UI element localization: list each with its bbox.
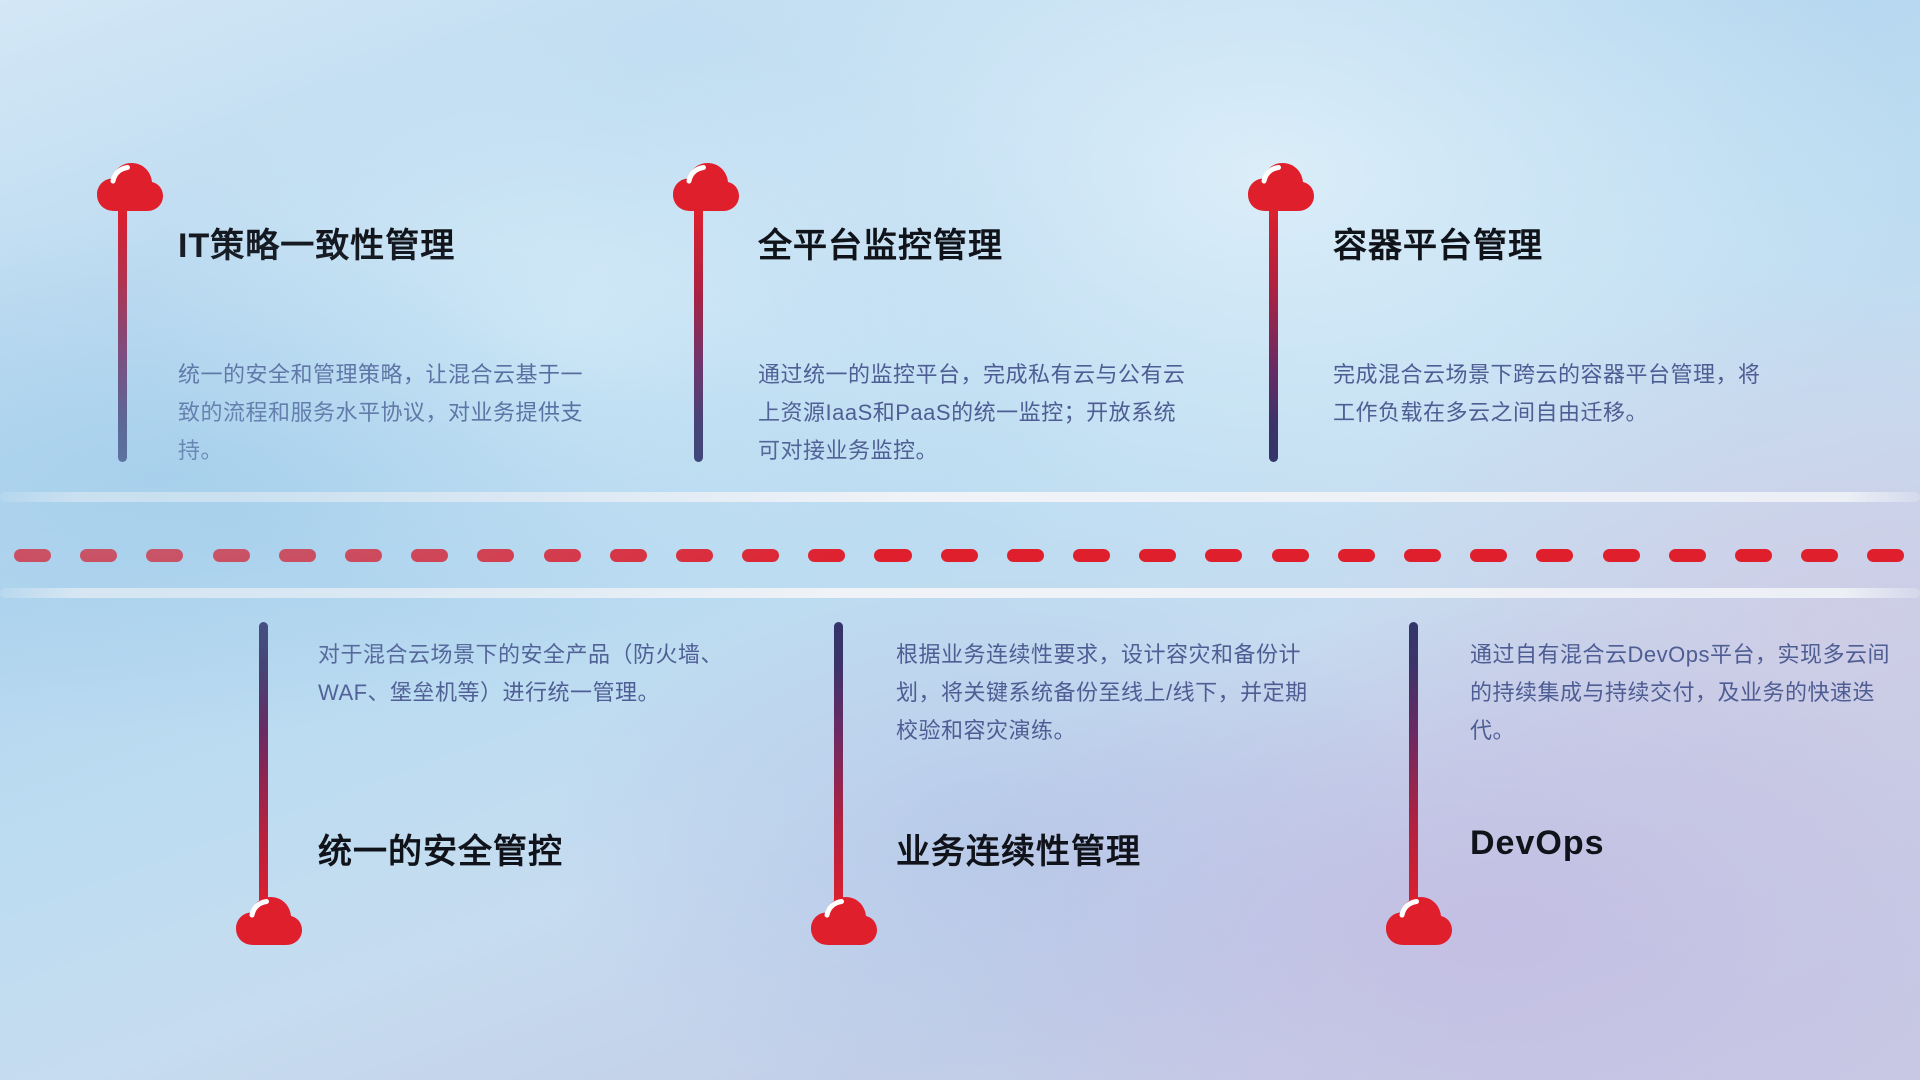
divider-dash — [345, 549, 382, 562]
cloud-icon — [1247, 162, 1315, 212]
cloud-icon — [810, 896, 878, 946]
divider-dash — [544, 549, 581, 562]
divider-dash — [1404, 549, 1441, 562]
card-title-full-platform-monitoring: 全平台监控管理 — [758, 218, 1003, 267]
connector-stem — [694, 206, 703, 462]
cloud-icon — [235, 896, 303, 946]
cloud-icon — [96, 162, 164, 212]
divider-rail-top — [0, 492, 1920, 502]
divider-dash — [1470, 549, 1507, 562]
divider-rail-bottom — [0, 588, 1920, 598]
card-title-container-platform: 容器平台管理 — [1333, 218, 1543, 267]
cloud-icon — [672, 162, 740, 212]
connector-stem — [834, 622, 843, 912]
cloud-icon — [1385, 896, 1453, 946]
divider-dash — [742, 549, 779, 562]
connector-stem — [259, 622, 268, 912]
divider-dash — [1669, 549, 1706, 562]
card-title-it-policy-consistency: IT策略一致性管理 — [178, 218, 455, 267]
divider-dashed-line — [0, 548, 1920, 562]
divider-dash — [1205, 549, 1242, 562]
divider-dash — [279, 549, 316, 562]
card-desc-business-continuity: 根据业务连续性要求，设计容灾和备份计划，将关键系统备份至线上/线下，并定期校验和… — [896, 636, 1328, 750]
divider-dash — [477, 549, 514, 562]
divider-dash — [1867, 549, 1904, 562]
divider-dash — [1735, 549, 1772, 562]
card-title-unified-security-control: 统一的安全管控 — [318, 824, 563, 873]
card-title-business-continuity: 业务连续性管理 — [896, 824, 1141, 873]
divider-dash — [610, 549, 647, 562]
card-desc-unified-security-control: 对于混合云场景下的安全产品（防火墙、WAF、堡垒机等）进行统一管理。 — [318, 636, 738, 712]
divider-dash — [808, 549, 845, 562]
divider-dash — [146, 549, 183, 562]
connector-stem — [1269, 206, 1278, 462]
divider-dash — [1603, 549, 1640, 562]
divider-dash — [1272, 549, 1309, 562]
divider-dash — [14, 549, 51, 562]
card-desc-devops: 通过自有混合云DevOps平台，实现多云间的持续集成与持续交付，及业务的快速迭代… — [1470, 636, 1890, 750]
divider-dash — [213, 549, 250, 562]
divider-dash — [80, 549, 117, 562]
card-title-devops: DevOps — [1470, 824, 1605, 863]
divider-dash — [941, 549, 978, 562]
divider-dash — [1007, 549, 1044, 562]
divider-dash — [874, 549, 911, 562]
card-desc-it-policy-consistency: 统一的安全和管理策略，让混合云基于一致的流程和服务水平协议，对业务提供支持。 — [178, 356, 598, 470]
card-desc-full-platform-monitoring: 通过统一的监控平台，完成私有云与公有云上资源IaaS和PaaS的统一监控；开放系… — [758, 356, 1198, 470]
infographic-canvas: IT策略一致性管理 统一的安全和管理策略，让混合云基于一致的流程和服务水平协议，… — [0, 0, 1920, 1080]
divider-dash — [1139, 549, 1176, 562]
divider-dash — [1536, 549, 1573, 562]
divider-dash — [1801, 549, 1838, 562]
divider-dash — [1338, 549, 1375, 562]
card-desc-container-platform: 完成混合云场景下跨云的容器平台管理，将工作负载在多云之间自由迁移。 — [1333, 356, 1765, 432]
divider-dash — [411, 549, 448, 562]
connector-stem — [1409, 622, 1418, 912]
divider-dash — [676, 549, 713, 562]
divider-dash — [1073, 549, 1110, 562]
connector-stem — [118, 206, 127, 462]
